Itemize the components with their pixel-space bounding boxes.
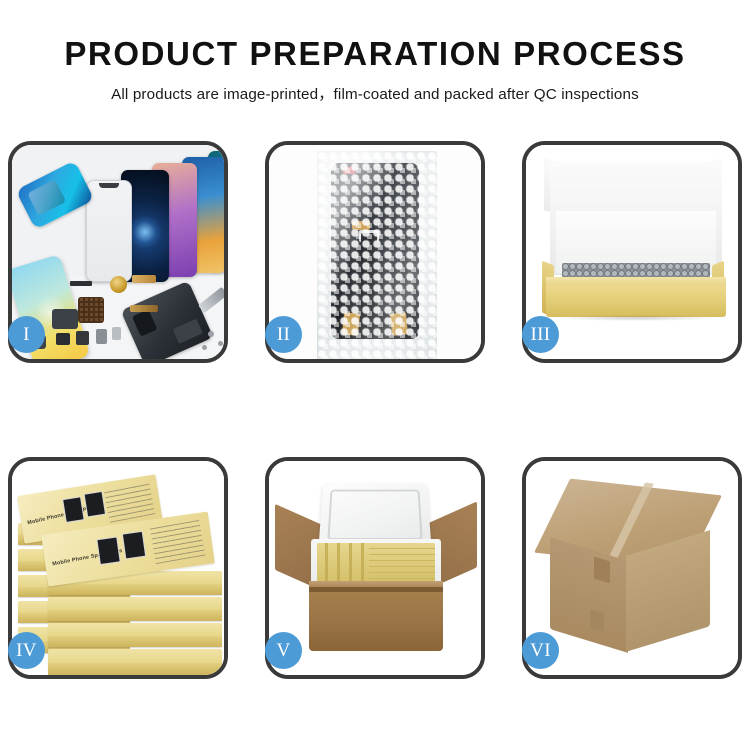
drop-shadow xyxy=(554,315,718,321)
small-part-c-icon xyxy=(96,329,107,344)
plastic-sheen xyxy=(317,151,437,359)
step-badge-4: IV xyxy=(8,632,45,669)
open-carton-scene xyxy=(269,461,481,675)
box-art-screen-3-icon xyxy=(96,536,120,565)
product-preparation-infographic: PRODUCT PREPARATION PROCESS All products… xyxy=(0,0,750,750)
small-part-b-icon xyxy=(76,331,89,345)
carton-front-panel-icon xyxy=(309,587,443,651)
box-art-screen-2-icon xyxy=(84,491,107,518)
phone-glass-protector-icon xyxy=(86,180,132,282)
flex-cable-part-icon xyxy=(132,275,156,283)
small-part-d-icon xyxy=(112,327,121,340)
sealed-carton-scene xyxy=(526,461,738,675)
page-subtitle: All products are image-printed，film-coat… xyxy=(0,73,750,104)
panel-image-1 xyxy=(12,145,224,359)
box-stack: Mobile Phone Spare Parts Mobile Phone Sp… xyxy=(12,461,224,675)
speaker-bar-part-icon xyxy=(70,281,92,286)
process-step-grid: I xyxy=(8,141,742,679)
step-badge-2: II xyxy=(265,316,302,353)
small-part-a-icon xyxy=(56,333,70,345)
box-art-screen-4-icon xyxy=(122,531,146,560)
page-title: PRODUCT PREPARATION PROCESS xyxy=(0,0,750,73)
wireless-coil-part-icon xyxy=(110,276,127,293)
panel-image-3 xyxy=(526,145,738,359)
phone-back-housing-icon xyxy=(121,281,214,359)
process-step-panel-5[interactable]: V xyxy=(265,457,485,679)
header: PRODUCT PREPARATION PROCESS All products… xyxy=(0,0,750,104)
bubble-bag xyxy=(317,151,437,359)
stack-box-front-4 xyxy=(48,649,222,675)
box-art-screen-1-icon xyxy=(62,496,85,523)
panel-image-4: Mobile Phone Spare Parts Mobile Phone Sp… xyxy=(12,461,224,675)
step-badge-1: I xyxy=(8,316,45,353)
stacked-boxes-scene: Mobile Phone Spare Parts Mobile Phone Sp… xyxy=(12,461,224,675)
foam-lid-icon xyxy=(318,483,431,547)
step-badge-6: VI xyxy=(522,632,559,669)
panel-image-5 xyxy=(269,461,481,675)
screw-1-icon xyxy=(208,331,214,337)
process-step-panel-6[interactable]: VI xyxy=(522,457,742,679)
process-step-panel-3[interactable]: III xyxy=(522,141,742,363)
kraft-tray-scene xyxy=(526,145,738,359)
carton-tab-1-icon xyxy=(594,557,610,584)
panel-image-6 xyxy=(526,461,738,675)
bubble-wrap-scene xyxy=(269,145,481,359)
panel-image-2 xyxy=(269,145,481,359)
box-spec-lines-rear xyxy=(104,481,156,523)
process-step-panel-4[interactable]: Mobile Phone Spare Parts Mobile Phone Sp… xyxy=(8,457,228,679)
connector-part-icon xyxy=(52,309,78,329)
tweezers-tool-icon xyxy=(198,287,224,313)
stack-box-front-2 xyxy=(48,597,222,621)
chip-grid-part-icon xyxy=(78,297,104,323)
screw-2-icon xyxy=(218,341,223,346)
step-badge-5: V xyxy=(265,632,302,669)
carton-tab-2-icon xyxy=(590,609,604,631)
step-badge-3: III xyxy=(522,316,559,353)
phone-parts-scene xyxy=(12,145,224,359)
packed-retail-boxes-icon xyxy=(317,543,435,585)
screw-3-icon xyxy=(202,345,207,350)
box-spec-lines-front xyxy=(150,520,205,564)
flex-cable-2-part-icon xyxy=(130,305,158,312)
kraft-tray-front-icon xyxy=(546,285,726,317)
stack-box-front-3 xyxy=(48,623,222,647)
process-step-panel-1[interactable]: I xyxy=(8,141,228,363)
process-step-panel-2[interactable]: II xyxy=(265,141,485,363)
